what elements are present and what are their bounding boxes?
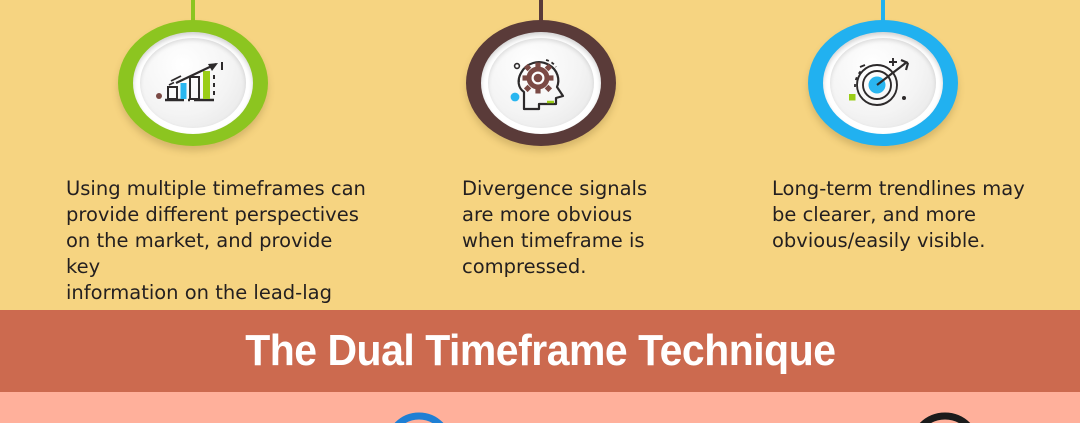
badge-face-3	[830, 38, 936, 128]
dark-ring-partial	[890, 406, 1000, 423]
badge-target-arrow[interactable]	[808, 20, 958, 146]
head-gear-thinking-icon	[506, 52, 576, 114]
infographic-page: Using multiple timeframes can provide di…	[0, 0, 1080, 423]
column-text-1: Using multiple timeframes can provide di…	[66, 176, 366, 332]
column-text-3: Long-term trendlines may be clearer, and…	[772, 176, 1052, 254]
badge-face-1	[140, 38, 246, 128]
title-banner: The Dual Timeframe Technique	[0, 310, 1080, 392]
bottom-band	[0, 392, 1080, 423]
badge-face-2	[488, 38, 594, 128]
badge-chart-growth[interactable]	[118, 20, 268, 146]
bar-chart-growth-icon	[154, 55, 232, 111]
target-circle-partial	[364, 406, 474, 423]
target-arrow-icon	[846, 54, 920, 112]
column-text-2: Divergence signals are more obvious when…	[462, 176, 752, 280]
banner-title: The Dual Timeframe Technique	[245, 326, 835, 376]
badge-head-gear[interactable]	[466, 20, 616, 146]
